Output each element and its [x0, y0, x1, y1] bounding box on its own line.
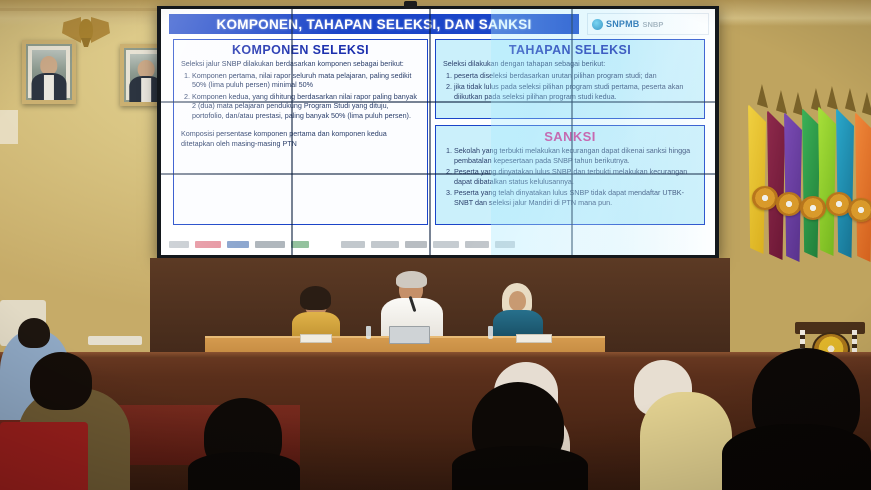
komponen-footer: Komposisi persentase komponen pertama da… — [181, 129, 420, 148]
komponen-item-2: Komponen kedua, yang dihitung berdasarka… — [192, 92, 420, 121]
partner-logo — [227, 241, 249, 248]
ac-unit — [0, 110, 18, 144]
flag-rosette — [800, 196, 826, 220]
wainscot-trim — [0, 352, 871, 358]
camera-icon — [404, 1, 417, 9]
tahapan-intro: Seleksi dilakukan dengan tahapan sebagai… — [443, 59, 697, 69]
flag-lime — [818, 106, 836, 256]
partner-logo — [169, 241, 189, 248]
attendee-body — [640, 392, 732, 490]
flag-yellow — [748, 104, 766, 254]
attendee-body — [188, 452, 300, 490]
hair-bun — [300, 286, 331, 310]
name-card — [300, 334, 332, 343]
water-bottle — [488, 326, 493, 339]
attendee-head — [18, 318, 50, 348]
komponen-item-1: Komponen pertama, nilai rapor seluruh ma… — [192, 71, 420, 90]
partner-logo — [495, 241, 515, 248]
flag-orange — [855, 112, 871, 262]
tahapan-item-1: peserta diseleksi berdasarkan urutan pil… — [454, 71, 697, 81]
tahapan-item-2: jika tidak lulus pada seleksi pilihan pr… — [454, 82, 697, 101]
power-strip — [88, 336, 142, 345]
flag-green — [802, 108, 820, 258]
partner-logo — [255, 241, 285, 248]
partner-logo — [405, 241, 427, 248]
flag-teal — [836, 108, 854, 258]
flag-maroon — [767, 110, 785, 260]
president-portrait — [22, 40, 76, 104]
snpmb-logo-icon — [592, 19, 603, 30]
sanksi-heading: SANKSI — [436, 126, 704, 146]
sanksi-item-2: Peserta yang dinyatakan lulus SNBP dan t… — [454, 167, 697, 186]
laptop[interactable] — [389, 326, 430, 344]
sanksi-item-1: Sekolah yang terbukti melakukan kecurang… — [454, 146, 697, 165]
sanksi-card: SANKSI Sekolah yang terbukti melakukan k… — [435, 125, 705, 225]
komponen-body: Seleksi jalur SNBP dilakukan berdasarkan… — [174, 59, 427, 155]
partner-logo — [371, 241, 399, 248]
hair — [396, 271, 427, 288]
partner-logo — [465, 241, 489, 248]
snbp-logo-text: SNBP — [643, 20, 664, 29]
flag-purple — [784, 112, 802, 262]
attendee-body — [452, 446, 588, 490]
panel-seam — [291, 9, 293, 255]
attendee-head — [30, 352, 92, 410]
panel-seam — [161, 173, 715, 175]
screenshot-root: KOMPONEN, TAHAPAN SELEKSI, DAN SANKSI SN… — [0, 0, 871, 490]
panel-seam — [429, 9, 431, 255]
tahapan-seleksi-card: TAHAPAN SELEKSI Seleksi dilakukan dengan… — [435, 39, 705, 119]
tahapan-heading: TAHAPAN SELEKSI — [436, 40, 704, 59]
partner-logo — [433, 241, 459, 248]
flag-rosette — [848, 198, 871, 222]
sanksi-item-3: Peserta yang telah dinyatakan lulus SNBP… — [454, 188, 697, 207]
komponen-heading: KOMPONEN SELEKSI — [174, 40, 427, 59]
water-bottle — [366, 326, 371, 339]
panel-seam — [571, 9, 573, 255]
slide-title: KOMPONEN, TAHAPAN SELEKSI, DAN SANKSI — [169, 14, 579, 34]
komponen-intro: Seleksi jalur SNBP dilakukan berdasarkan… — [181, 59, 420, 69]
presentation-slide: KOMPONEN, TAHAPAN SELEKSI, DAN SANKSI SN… — [161, 9, 715, 255]
sanksi-body: Sekolah yang terbukti melakukan kecurang… — [436, 146, 704, 213]
partner-logo — [341, 241, 365, 248]
snpmb-logo: SNPMB SNBP — [587, 13, 709, 35]
video-wall-screen[interactable]: KOMPONEN, TAHAPAN SELEKSI, DAN SANKSI SN… — [161, 9, 715, 255]
name-card — [516, 334, 552, 343]
partner-logo — [195, 241, 221, 248]
komponen-seleksi-card: KOMPONEN SELEKSI Seleksi jalur SNBP dila… — [173, 39, 428, 225]
flag-rosette — [776, 192, 802, 216]
snpmb-logo-text: SNPMB — [606, 19, 640, 29]
partner-logo-strip — [169, 237, 707, 252]
panel-seam — [161, 101, 715, 103]
partner-logo — [291, 241, 309, 248]
attendee-body — [722, 424, 871, 490]
flag-rosette — [752, 186, 778, 210]
chair — [0, 422, 88, 490]
ceiling-trim — [0, 8, 160, 11]
